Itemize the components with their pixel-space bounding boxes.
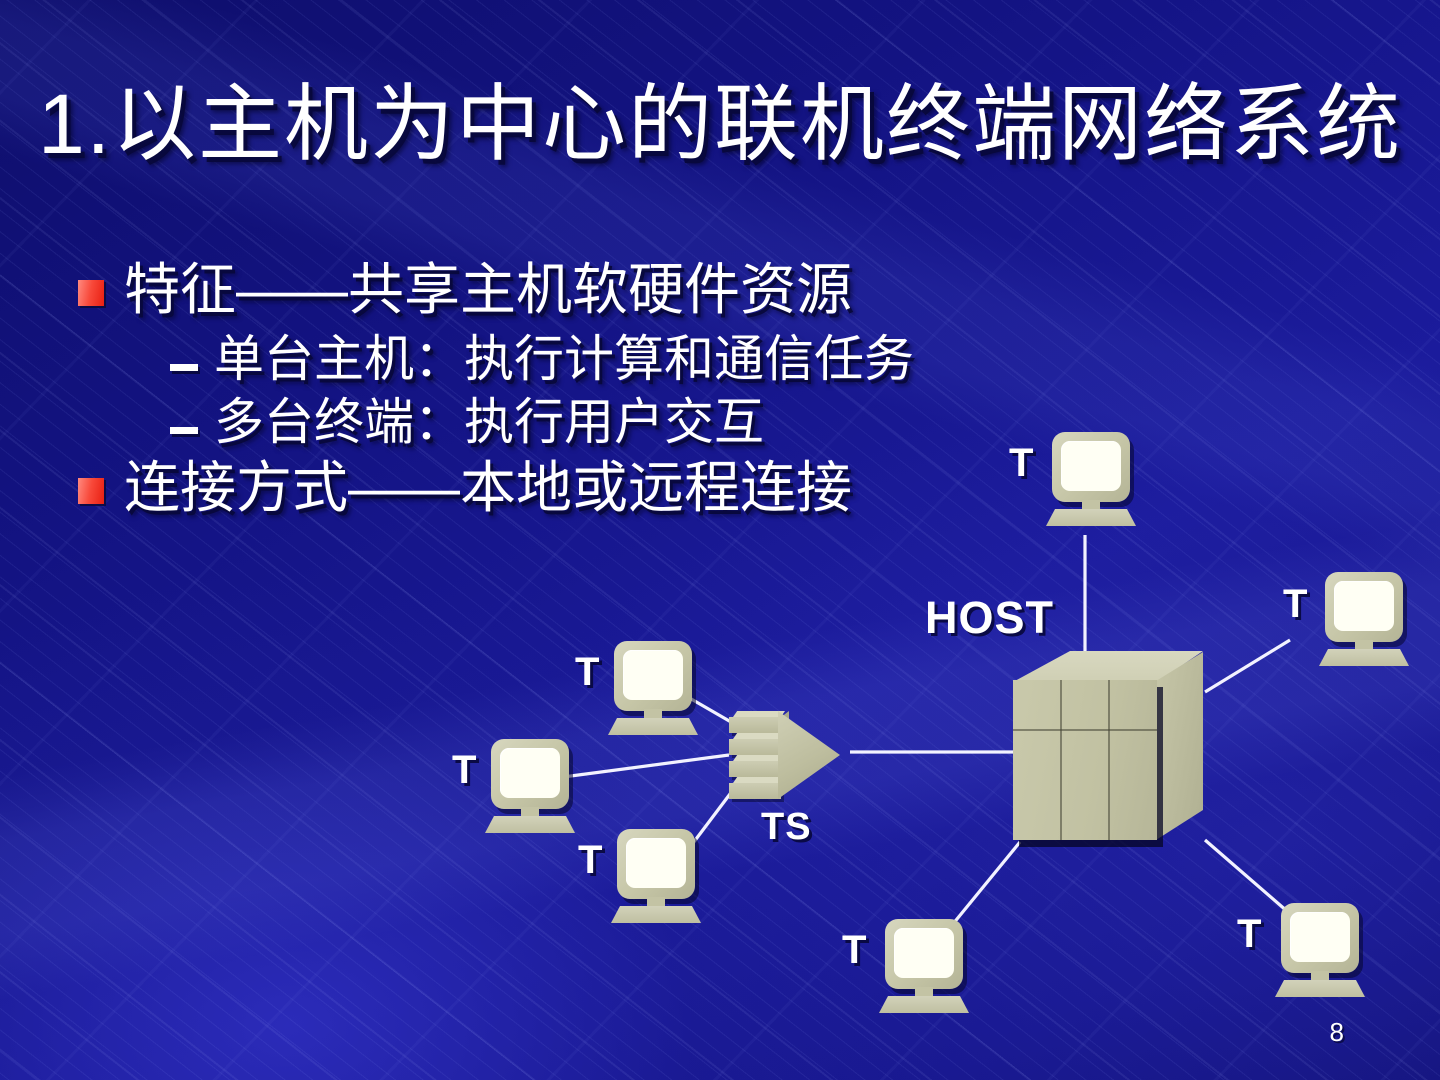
- monitor-body: [1281, 903, 1359, 973]
- network-diagram: HOST TS T T: [0, 0, 1440, 1080]
- terminal-icon-t-right-upper: [1315, 572, 1411, 676]
- terminal-icon-t-top: [1042, 432, 1138, 536]
- terminal-label-t-ts-lower: T: [578, 838, 602, 883]
- monitor-base: [485, 816, 575, 833]
- terminal-label-t-right-lower: T: [1237, 912, 1261, 957]
- monitor-body: [614, 641, 692, 711]
- monitor-neck: [647, 897, 665, 907]
- host-label: HOST: [925, 592, 1054, 644]
- monitor-base: [1046, 509, 1136, 526]
- link-host-to-t-right-upper: [1205, 640, 1290, 692]
- host-front-face: [1013, 680, 1157, 840]
- host-mainframe-icon: [1013, 652, 1203, 842]
- terminal-icon-t-ts-left: [481, 739, 577, 843]
- monitor-neck: [1355, 640, 1373, 650]
- terminal-label-t-top: T: [1009, 441, 1033, 486]
- terminal-server-icon: [729, 711, 849, 801]
- terminal-label-t-ts-left: T: [452, 748, 476, 793]
- monitor-screen: [894, 928, 954, 978]
- terminal-icon-t-bottom: [875, 919, 971, 1023]
- monitor-neck: [644, 709, 662, 719]
- ts-port-bar: [729, 761, 781, 777]
- ts-port-bar: [729, 717, 781, 733]
- monitor-body: [1325, 572, 1403, 642]
- terminal-icon-t-ts-upper: [604, 641, 700, 745]
- terminal-icon-t-ts-lower: [607, 829, 703, 933]
- monitor-screen: [500, 748, 560, 798]
- slide-canvas: 1.以主机为中心的联机终端网络系统 特征——共享主机软硬件资源 单台主机：执行计…: [0, 0, 1440, 1080]
- monitor-base: [1319, 649, 1409, 666]
- monitor-body: [1052, 432, 1130, 502]
- monitor-screen: [1334, 581, 1394, 631]
- monitor-base: [879, 996, 969, 1013]
- monitor-base: [611, 906, 701, 923]
- monitor-neck: [1311, 971, 1329, 981]
- host-panel-divider: [1060, 680, 1062, 840]
- monitor-screen: [626, 838, 686, 888]
- link-host-to-t-bottom: [948, 842, 1020, 930]
- host-panel-divider: [1108, 680, 1110, 840]
- ts-port-bar: [729, 783, 781, 799]
- monitor-base: [1275, 980, 1365, 997]
- monitor-base: [608, 718, 698, 735]
- monitor-body: [617, 829, 695, 899]
- host-side-face: [1156, 652, 1203, 840]
- link-host-to-t-right-lower: [1205, 840, 1288, 912]
- monitor-neck: [915, 987, 933, 997]
- monitor-screen: [1061, 441, 1121, 491]
- page-number: 8: [1330, 1017, 1344, 1048]
- monitor-body: [885, 919, 963, 989]
- terminal-server-label: TS: [761, 806, 812, 849]
- connection-lines: [0, 0, 1440, 1080]
- monitor-neck: [1082, 500, 1100, 510]
- monitor-body: [491, 739, 569, 809]
- terminal-label-t-right-upper: T: [1283, 582, 1307, 627]
- ts-triangle-body: [778, 711, 840, 799]
- monitor-screen: [1290, 912, 1350, 962]
- monitor-neck: [521, 807, 539, 817]
- monitor-screen: [623, 650, 683, 700]
- ts-port-bar: [729, 739, 781, 755]
- terminal-label-t-ts-upper: T: [575, 650, 599, 695]
- terminal-label-t-bottom: T: [842, 928, 866, 973]
- host-panel-divider: [1013, 729, 1157, 731]
- terminal-icon-t-right-lower: [1271, 903, 1367, 1007]
